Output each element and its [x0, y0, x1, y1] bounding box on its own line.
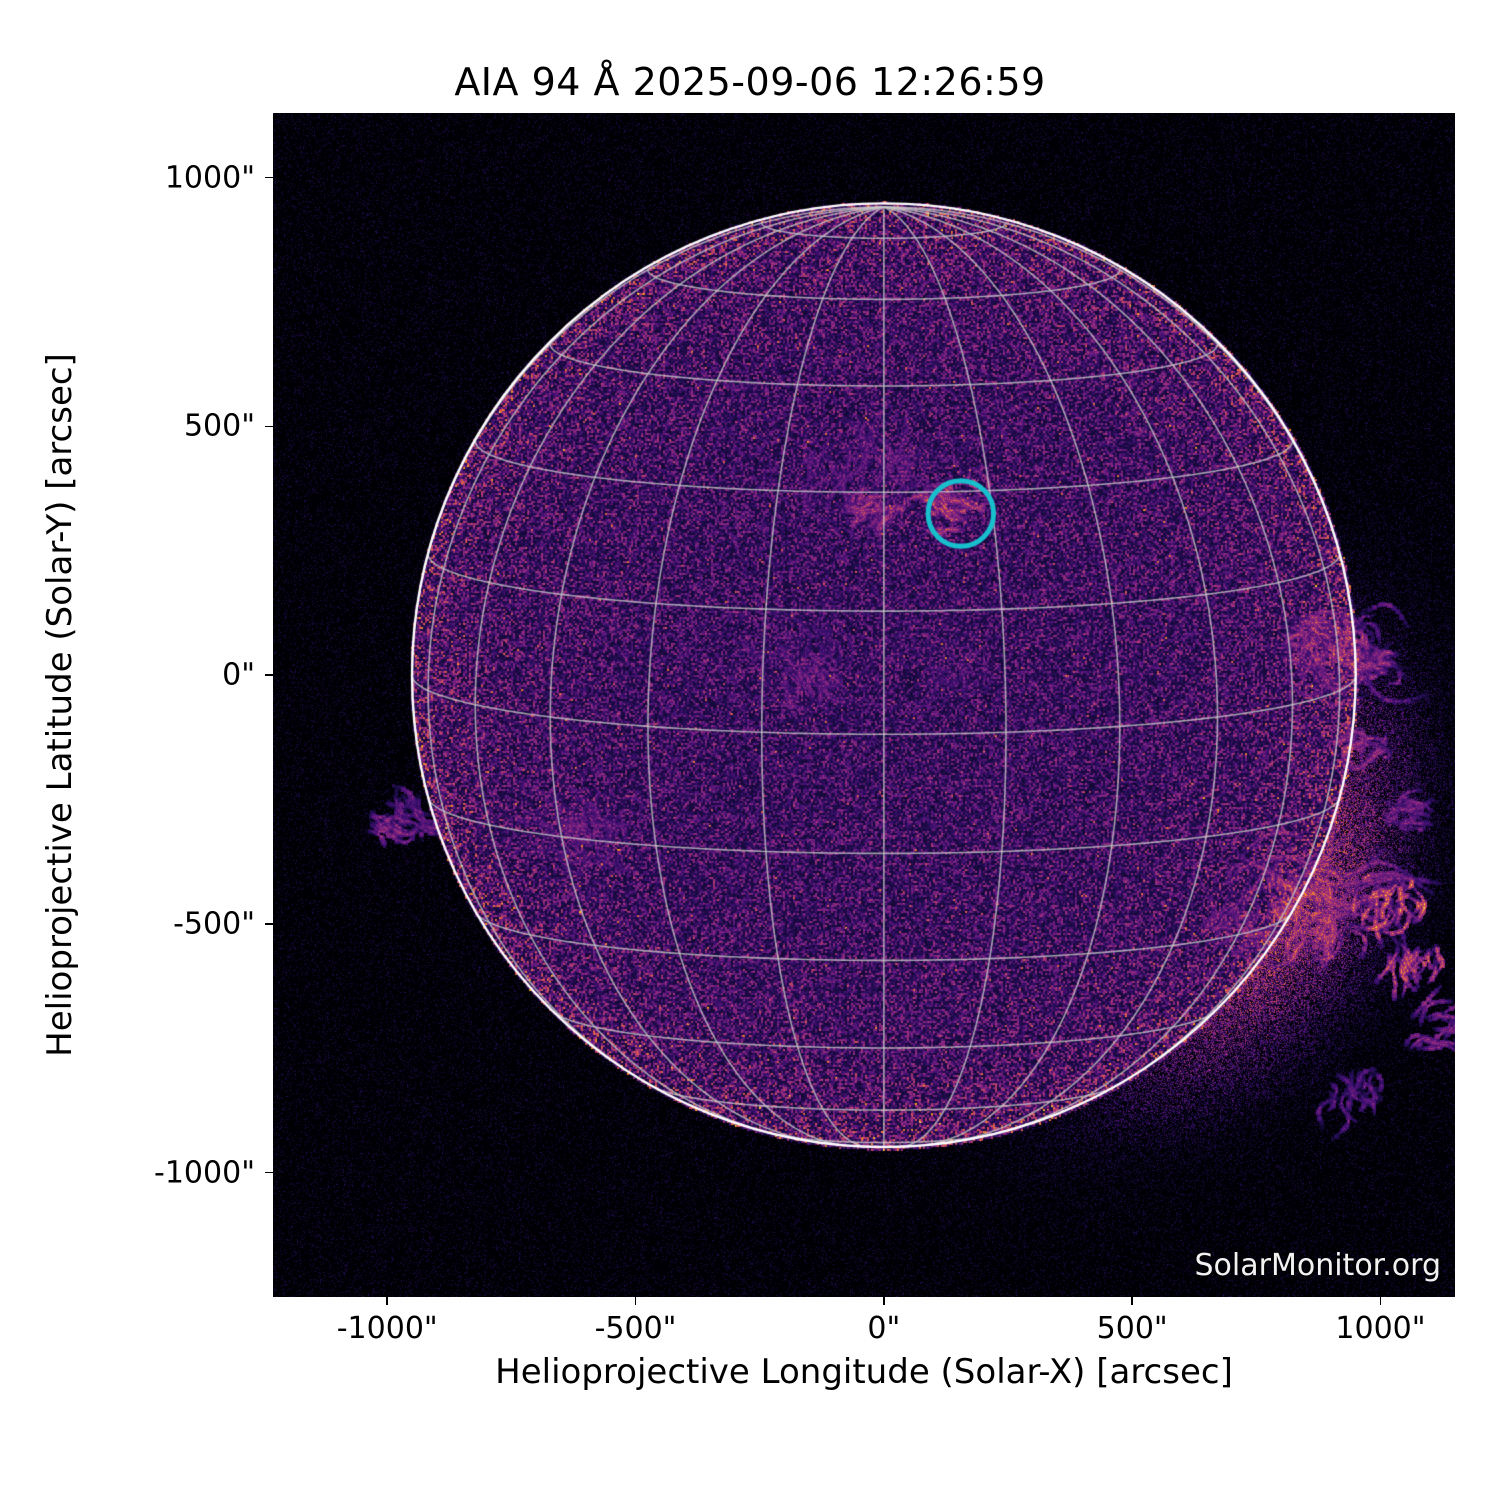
y-tick-label: -1000" — [0, 1155, 255, 1190]
x-tick-label: -1000" — [337, 1311, 438, 1346]
y-tick-label: -500" — [0, 906, 255, 941]
x-tick-mark — [635, 1297, 637, 1305]
solar-image-plot[interactable]: SolarMonitor.org — [273, 113, 1455, 1297]
x-tick-mark — [1380, 1297, 1382, 1305]
x-tick-mark — [883, 1297, 885, 1305]
y-tick-label: 0" — [0, 658, 255, 693]
x-tick-label: 500" — [1097, 1311, 1168, 1346]
solar-disk-image — [273, 113, 1455, 1297]
y-tick-mark — [265, 1172, 273, 1174]
y-tick-label: 1000" — [0, 160, 255, 195]
x-tick-label: -500" — [595, 1311, 677, 1346]
x-tick-label: 0" — [867, 1311, 900, 1346]
y-tick-mark — [265, 923, 273, 925]
y-axis-label: Helioprojective Latitude (Solar-Y) [arcs… — [40, 353, 80, 1057]
x-axis-label: Helioprojective Longitude (Solar-X) [arc… — [273, 1352, 1455, 1392]
y-tick-mark — [265, 177, 273, 179]
solar-image-figure: AIA 94 Å 2025-09-06 12:26:59 SolarMonito… — [0, 0, 1500, 1500]
page-title: AIA 94 Å 2025-09-06 12:26:59 — [0, 60, 1500, 104]
x-tick-mark — [386, 1297, 388, 1305]
y-tick-mark — [265, 426, 273, 428]
y-tick-mark — [265, 674, 273, 676]
x-tick-mark — [1131, 1297, 1133, 1305]
y-tick-label: 500" — [0, 409, 255, 444]
x-tick-label: 1000" — [1335, 1311, 1425, 1346]
